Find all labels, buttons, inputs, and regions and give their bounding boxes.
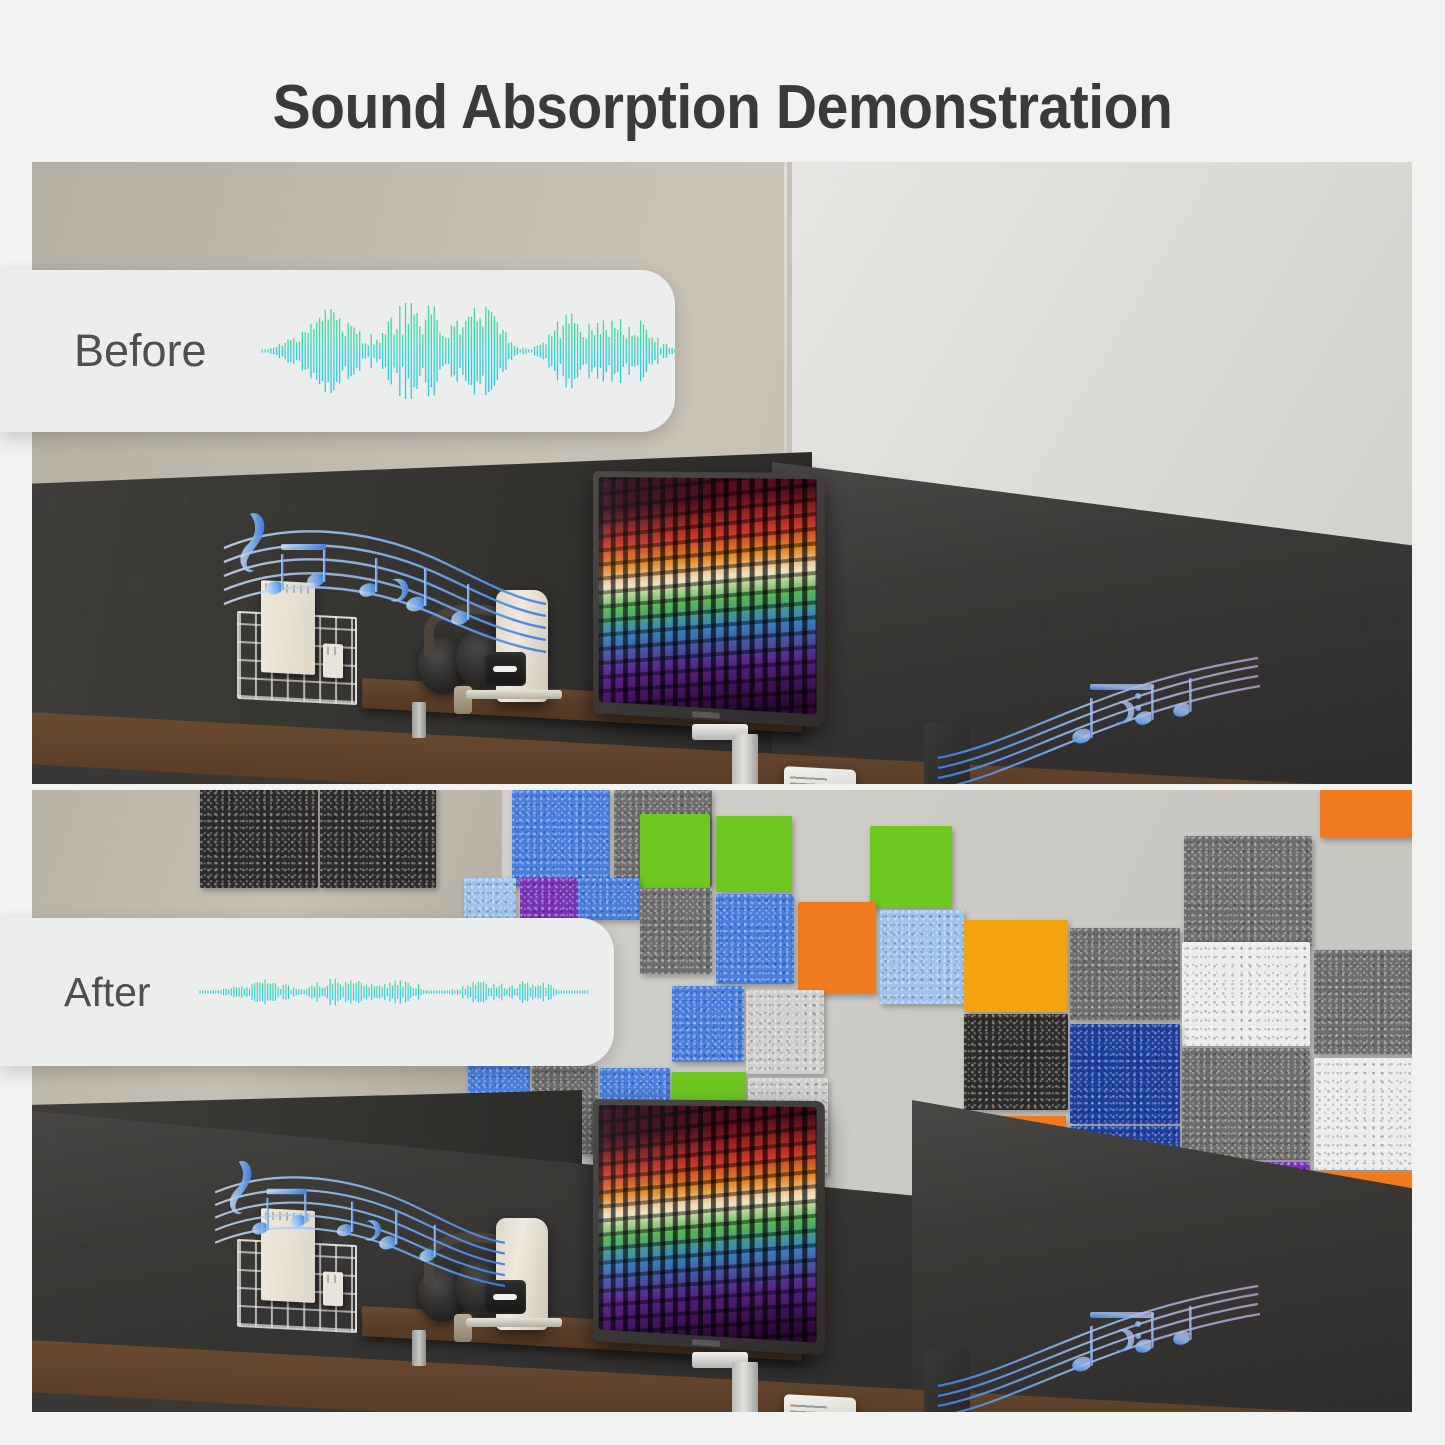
- waveform-bar: [270, 348, 271, 354]
- acoustic-panel: [870, 826, 952, 908]
- waveform-bar: [273, 348, 274, 355]
- waveform-bar: [537, 985, 538, 998]
- speaker-badge-after: [484, 1280, 526, 1314]
- before-label: Before: [74, 325, 207, 377]
- waveform-bar: [568, 323, 569, 378]
- waveform-bar: [660, 347, 661, 355]
- waveform-bar: [249, 989, 250, 996]
- waveform-bar: [542, 983, 543, 1002]
- waveform-bar: [456, 321, 457, 382]
- waveform-bar: [493, 316, 494, 386]
- waveform-bar: [501, 983, 502, 1000]
- after-label-pill: After: [0, 918, 614, 1066]
- waveform-bar: [566, 990, 567, 993]
- waveform-bar: [370, 334, 371, 369]
- waveform-bar: [674, 349, 675, 352]
- waveform-bar: [457, 989, 458, 995]
- waveform-bar: [485, 984, 486, 1001]
- waveform-bar: [368, 987, 369, 997]
- waveform-bar: [548, 334, 549, 367]
- waveform-bar: [496, 322, 497, 380]
- waveform-bar: [307, 333, 308, 369]
- acoustic-panel: [578, 878, 640, 920]
- waveform-bar: [585, 338, 586, 364]
- acoustic-panel: [1320, 790, 1412, 838]
- waveform-bar: [381, 987, 382, 998]
- waveform-bar: [207, 990, 208, 993]
- waveform-bar: [488, 310, 489, 392]
- waveform-bar: [419, 326, 420, 376]
- acoustic-panel: [880, 910, 964, 1004]
- waveform-bar: [215, 990, 216, 993]
- waveform-bar: [529, 987, 530, 996]
- waveform-bar: [591, 330, 592, 372]
- waveform-bar: [217, 990, 218, 993]
- waveform-bar: [490, 988, 491, 996]
- curved-gaming-monitor-after: [593, 1099, 825, 1355]
- waveform-bar: [293, 988, 294, 997]
- waveform-bar: [556, 322, 557, 381]
- waveform-bar: [425, 320, 426, 382]
- waveform-bar: [337, 982, 338, 1001]
- waveform-bar: [308, 987, 309, 997]
- waveform-bar: [480, 982, 481, 1002]
- waveform-bar: [267, 983, 268, 1000]
- waveform-bar: [389, 982, 390, 1001]
- waveform-bar: [574, 323, 575, 379]
- waveform-bar: [628, 327, 629, 375]
- waveform-bar: [355, 983, 356, 1001]
- waveform-bar: [462, 986, 463, 999]
- waveform-bar: [625, 339, 626, 364]
- waveform-bar: [353, 984, 354, 1001]
- waveform-bar: [384, 984, 385, 1000]
- waveform-bar: [559, 338, 560, 364]
- waveform-bar: [631, 336, 632, 366]
- spiral-notepad: [261, 580, 315, 675]
- waveform-bar: [284, 343, 285, 360]
- waveform-bar: [611, 321, 612, 382]
- waveform-bar: [238, 987, 239, 996]
- waveform-bar: [405, 303, 406, 399]
- waveform-bar: [353, 327, 354, 374]
- waveform-bar: [605, 330, 606, 373]
- waveform-bar: [293, 338, 294, 364]
- waveform-bar: [350, 326, 351, 377]
- waveform-bar: [536, 346, 537, 357]
- waveform-bar: [449, 990, 450, 993]
- acoustic-panel: [200, 790, 318, 888]
- waveform-bar: [362, 343, 363, 358]
- waveform-bar: [319, 986, 320, 997]
- waveform-bar: [467, 985, 468, 999]
- waveform-bar: [399, 980, 400, 1004]
- waveform-bar: [220, 990, 221, 993]
- waveform-bar: [555, 990, 556, 995]
- waveform-bar: [473, 308, 474, 395]
- waveform-bar: [531, 349, 532, 352]
- waveform-bar: [488, 988, 489, 997]
- waveform-bar: [416, 313, 417, 389]
- waveform-bar: [663, 344, 664, 358]
- page-title: Sound Absorption Demonstration: [58, 72, 1387, 143]
- waveform-bar: [493, 984, 494, 1001]
- waveform-bar: [502, 330, 503, 372]
- waveform-bar: [525, 348, 526, 354]
- waveform-bar: [441, 990, 442, 993]
- waveform-bar: [622, 335, 623, 367]
- acoustic-panel: [1070, 1024, 1180, 1124]
- waveform-bar: [470, 317, 471, 386]
- waveform-bar: [386, 988, 387, 997]
- waveform-bar: [376, 340, 377, 363]
- waveform-bar: [503, 988, 504, 996]
- waveform-bar: [241, 986, 242, 998]
- waveform-bar: [431, 990, 432, 993]
- waveform-bar: [264, 979, 265, 1004]
- waveform-bar: [620, 319, 621, 383]
- waveform-bar: [522, 981, 523, 1003]
- waveform-bar: [571, 313, 572, 388]
- acoustic-panel: [964, 920, 1068, 1012]
- waveform-bar: [453, 327, 454, 376]
- acoustic-panel: [1182, 942, 1310, 1046]
- wire-desk-basket: [237, 611, 357, 705]
- waveform-bar: [393, 334, 394, 367]
- waveform-bar: [330, 309, 331, 393]
- waveform-bar: [516, 988, 517, 996]
- waveform-bar: [321, 988, 322, 996]
- waveform-bar: [282, 985, 283, 1000]
- waveform-bar: [645, 330, 646, 373]
- waveform-bar: [442, 336, 443, 367]
- waveform-bar: [479, 318, 480, 384]
- waveform-bar: [415, 988, 416, 996]
- waveform-bar: [446, 990, 447, 993]
- waveform-bar: [430, 315, 431, 387]
- waveform-bar: [345, 982, 346, 1002]
- waveform-bar: [422, 334, 423, 368]
- waveform-bar: [301, 989, 302, 994]
- waveform-bar: [410, 303, 411, 399]
- basket-item-after: [323, 1271, 343, 1306]
- waveform-bar: [491, 312, 492, 390]
- waveform-bar: [506, 989, 507, 996]
- waveform-bar: [602, 320, 603, 381]
- before-photo: [32, 162, 1412, 784]
- waveform-bar: [439, 332, 440, 369]
- acoustic-panel: [464, 878, 516, 918]
- waveform-bar: [329, 979, 330, 1005]
- waveform-bar: [485, 307, 486, 395]
- waveform-bar: [202, 990, 203, 993]
- waveform-bar: [454, 990, 455, 993]
- waveform-bar: [301, 332, 302, 371]
- waveform-bar: [394, 981, 395, 1004]
- waveform-bar: [548, 984, 549, 1000]
- acoustic-panel: [320, 790, 436, 888]
- waveform-bar: [340, 984, 341, 999]
- acoustic-panel: [798, 902, 876, 994]
- waveform-bar: [225, 988, 226, 995]
- waveform-bar: [550, 985, 551, 1000]
- waveform-bar: [542, 343, 543, 360]
- waveform-bar: [407, 983, 408, 1001]
- waveform-bar: [472, 982, 473, 1002]
- waveform-bar: [640, 320, 641, 381]
- waveform-bar: [347, 984, 348, 1001]
- acoustic-panel: [672, 986, 744, 1062]
- monitor-screen-after: [599, 1105, 817, 1343]
- waveform-bar: [275, 983, 276, 1000]
- waveform-bar: [420, 989, 421, 995]
- waveform-bar: [298, 989, 299, 995]
- waveform-bar: [540, 986, 541, 998]
- waveform-bar: [373, 986, 374, 998]
- waveform-bar: [482, 326, 483, 375]
- waveform-bar: [582, 337, 583, 365]
- waveform-bar: [534, 346, 535, 355]
- waveform-bar: [438, 990, 439, 993]
- waveform-bar: [276, 347, 277, 355]
- after-scene: [32, 790, 1412, 1412]
- basket-item: [323, 643, 343, 678]
- acoustic-panel: [1184, 836, 1312, 946]
- waveform-bar: [199, 990, 200, 993]
- acoustic-panel: [716, 816, 792, 892]
- before-waveform: [261, 286, 675, 416]
- waveform-bar: [212, 990, 213, 994]
- waveform-bar: [450, 325, 451, 377]
- waveform-bar: [287, 339, 288, 362]
- waveform-bar: [280, 989, 281, 995]
- waveform-bar: [324, 310, 325, 393]
- waveform-bar: [584, 990, 585, 993]
- waveform-bar: [410, 986, 411, 998]
- acoustic-panel: [1314, 1058, 1412, 1170]
- waveform-bar: [539, 345, 540, 358]
- waveform-bar: [332, 984, 333, 1001]
- waveform-bar: [402, 335, 403, 367]
- waveform-bar: [476, 321, 477, 381]
- waveform-bar: [303, 990, 304, 994]
- after-label: After: [64, 969, 151, 1016]
- waveform-bar: [579, 990, 580, 993]
- waveform-bar: [379, 343, 380, 359]
- waveform-bar: [648, 338, 649, 364]
- waveform-bar: [363, 986, 364, 999]
- acoustic-panel: [1182, 1048, 1310, 1160]
- waveform-bar: [236, 987, 237, 996]
- waveform-bar: [671, 348, 672, 354]
- waveform-bar: [668, 348, 669, 354]
- waveform-bar: [581, 990, 582, 993]
- waveform-bar: [451, 989, 452, 995]
- speaker-foot: [466, 690, 562, 699]
- waveform-bar: [577, 324, 578, 378]
- waveform-bar: [423, 990, 424, 994]
- waveform-bar: [366, 984, 367, 999]
- waveform-bar: [571, 990, 572, 993]
- waveform-bar: [272, 983, 273, 1001]
- waveform-bar: [397, 985, 398, 999]
- waveform-bar: [356, 334, 357, 368]
- acoustic-panel: [1314, 950, 1412, 1054]
- acoustic-panel: [512, 790, 610, 886]
- waveform-bar: [505, 332, 506, 370]
- waveform-bar: [336, 320, 337, 382]
- waveform-bar: [399, 306, 400, 396]
- waveform-bar: [382, 333, 383, 369]
- waveform-bar: [373, 344, 374, 358]
- waveform-bar: [553, 988, 554, 996]
- waveform-bar: [587, 990, 588, 993]
- waveform-bar: [509, 987, 510, 997]
- waveform-bar: [499, 334, 500, 368]
- monitor-neck-after: [732, 1362, 758, 1412]
- waveform-bar: [524, 984, 525, 1000]
- waveform-bar: [519, 349, 520, 353]
- waveform-bar: [448, 338, 449, 364]
- waveform-bar: [514, 989, 515, 996]
- waveform-bar: [278, 344, 279, 358]
- waveform-bar: [545, 344, 546, 358]
- waveform-bar: [298, 341, 299, 360]
- acoustic-panel: [640, 814, 710, 888]
- acoustic-panel: [640, 888, 712, 974]
- waveform-bar: [402, 987, 403, 997]
- waveform-bar: [459, 334, 460, 368]
- waveform-bar: [477, 982, 478, 1003]
- waveform-bar: [256, 982, 257, 1002]
- acoustic-panel: [746, 990, 824, 1074]
- waveform-bar: [295, 989, 296, 995]
- waveform-bar: [554, 331, 555, 371]
- waveform-bar: [444, 990, 445, 993]
- waveform-bar: [561, 990, 562, 993]
- waveform-bar: [465, 321, 466, 381]
- waveform-bar: [579, 332, 580, 370]
- waveform-bar: [657, 338, 658, 364]
- waveform-bar: [464, 989, 465, 995]
- waveform-bar: [516, 347, 517, 354]
- speaker-badge: [484, 652, 526, 686]
- monitor-neck: [732, 734, 758, 784]
- waveform-bar: [359, 331, 360, 371]
- waveform-bar: [574, 990, 575, 993]
- spiral-notepad-after: [261, 1208, 315, 1303]
- waveform-bar: [413, 315, 414, 387]
- waveform-bar: [511, 985, 512, 998]
- waveform-bar: [223, 989, 224, 995]
- waveform-bar: [390, 317, 391, 384]
- waveform-bar: [277, 987, 278, 997]
- waveform-bar: [425, 990, 426, 994]
- side-board: [924, 722, 970, 784]
- waveform-bar: [334, 979, 335, 1006]
- waveform-bar: [387, 322, 388, 381]
- waveform-bar: [427, 306, 428, 397]
- after-waveform: [199, 937, 589, 1047]
- waveform-bar: [364, 343, 365, 359]
- waveform-bar: [327, 319, 328, 382]
- waveform-bar: [251, 984, 252, 1000]
- spectrum-bars-after: [599, 1105, 817, 1343]
- wire-desk-basket-after: [237, 1239, 357, 1333]
- waveform-bar: [254, 983, 255, 1001]
- waveform-bar: [316, 982, 317, 1002]
- waveform-bar: [459, 990, 460, 994]
- acoustic-panel: [1070, 928, 1180, 1020]
- waveform-bar: [433, 990, 434, 993]
- waveform-bar: [511, 342, 512, 360]
- waveform-bar: [347, 323, 348, 380]
- waveform-bar: [243, 988, 244, 995]
- waveform-bar: [321, 321, 322, 381]
- waveform-bar: [262, 983, 263, 1001]
- after-photo: [32, 790, 1412, 1412]
- waveform-bar: [568, 990, 569, 993]
- waveform-bar: [594, 335, 595, 367]
- waveform-bar: [436, 320, 437, 382]
- waveform-bar: [654, 342, 655, 360]
- waveform-bar: [436, 990, 437, 993]
- waveform-bar: [350, 980, 351, 1003]
- waveform-bar: [558, 990, 559, 993]
- mini-white-device-after: [784, 1394, 856, 1412]
- acoustic-panel: [964, 1014, 1068, 1110]
- waveform-bar: [532, 984, 533, 999]
- waveform-bar: [290, 340, 291, 363]
- waveform-bar: [311, 985, 312, 999]
- waveform-bar: [324, 987, 325, 997]
- waveform-bar: [498, 986, 499, 998]
- waveform-bar: [428, 990, 429, 993]
- page-root: Sound Absorption Demonstration: [0, 0, 1445, 1445]
- waveform-bar: [379, 985, 380, 998]
- side-board-after: [924, 1350, 970, 1412]
- waveform-bar: [204, 990, 205, 993]
- waveform-bar: [376, 986, 377, 998]
- waveform-bar: [267, 349, 268, 352]
- waveform-bar: [310, 324, 311, 379]
- waveform-bar: [565, 314, 566, 387]
- waveform-bar: [614, 328, 615, 374]
- waveform-bar: [342, 987, 343, 998]
- waveform-bar: [314, 987, 315, 998]
- waveform-bar: [551, 336, 552, 366]
- waveform-bar: [651, 337, 652, 365]
- waveform-bar: [519, 984, 520, 1000]
- waveform-bar: [246, 987, 247, 997]
- waveform-bar: [261, 349, 262, 352]
- waveform-bar: [341, 331, 342, 370]
- waveform-bar: [306, 989, 307, 995]
- waveform-bar: [599, 334, 600, 368]
- acoustic-panel: [520, 878, 578, 920]
- spectrum-bars: [599, 477, 817, 715]
- waveform-bar: [371, 984, 372, 1000]
- waveform-bar: [597, 323, 598, 379]
- waveform-bar: [304, 332, 305, 370]
- waveform-bar: [462, 327, 463, 375]
- curved-gaming-monitor: [593, 471, 825, 727]
- waveform-bar: [327, 985, 328, 998]
- waveform-bar: [233, 986, 234, 997]
- waveform-bar: [588, 324, 589, 379]
- mini-white-device: [784, 766, 856, 784]
- waveform-bar: [576, 990, 577, 993]
